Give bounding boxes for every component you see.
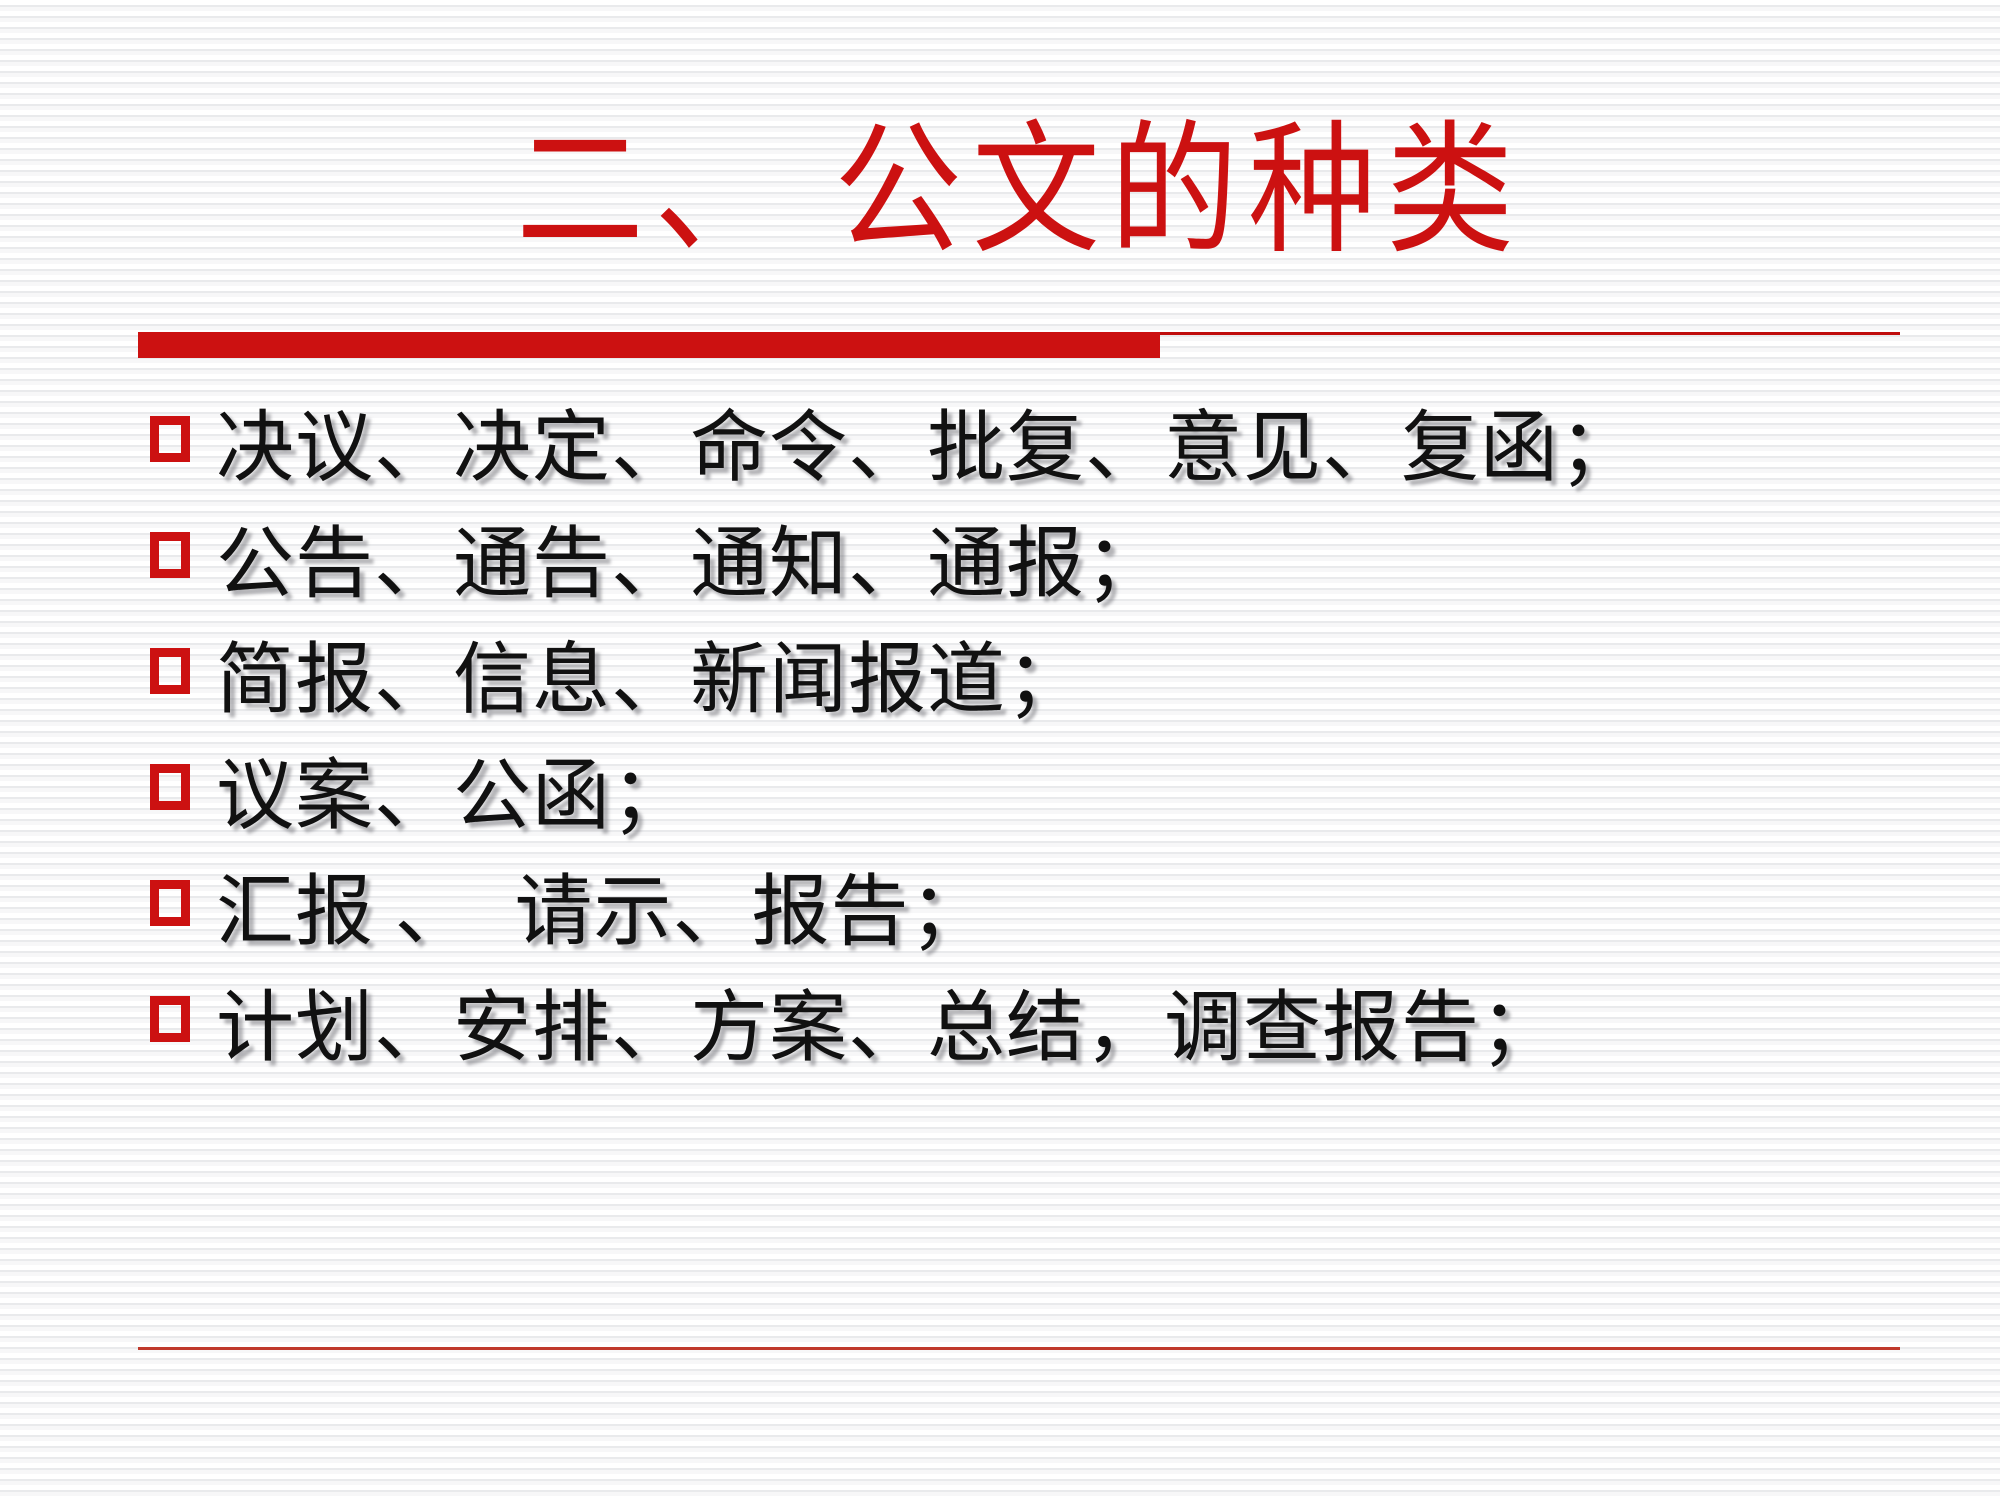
list-item-label: 公告、通告、通知、通报； — [216, 508, 1950, 620]
square-bullet-icon — [150, 764, 190, 810]
list-item-label: 简报、信息、新闻报道； — [216, 624, 1950, 736]
list-item[interactable]: 决议、决定、命令、批复、意见、复函； — [150, 392, 1950, 508]
square-bullet-icon — [150, 416, 190, 462]
list-item[interactable]: 汇报 、 请示、报告； — [150, 856, 1950, 972]
list-item[interactable]: 简报、信息、新闻报道； — [150, 624, 1950, 740]
slide-title-container: 二、 公文的种类 — [0, 120, 2000, 248]
list-item-label: 汇报 、 请示、报告； — [216, 856, 1950, 968]
list-item[interactable]: 计划、安排、方案、总结，调查报告； — [150, 972, 1950, 1088]
list-item[interactable]: 议案、公函； — [150, 740, 1950, 856]
slide-canvas: 二、 公文的种类 决议、决定、命令、批复、意见、复函； 公告、通告、通知、通报；… — [0, 0, 2000, 1500]
square-bullet-icon — [150, 880, 190, 926]
square-bullet-icon — [150, 996, 190, 1042]
list-item-label: 计划、安排、方案、总结，调查报告； — [216, 972, 1950, 1084]
footer-rule — [138, 1347, 1900, 1350]
square-bullet-icon — [150, 532, 190, 578]
list-item[interactable]: 公告、通告、通知、通报； — [150, 508, 1950, 624]
square-bullet-icon — [150, 648, 190, 694]
title-divider — [138, 332, 1900, 362]
document-type-list: 决议、决定、命令、批复、意见、复函； 公告、通告、通知、通报； 简报、信息、新闻… — [150, 392, 1950, 1088]
page-title: 二、 公文的种类 — [516, 120, 1524, 263]
list-item-label: 决议、决定、命令、批复、意见、复函； — [216, 392, 1950, 504]
title-divider-thick-bar — [138, 332, 1160, 358]
list-item-label: 议案、公函； — [216, 740, 1950, 852]
